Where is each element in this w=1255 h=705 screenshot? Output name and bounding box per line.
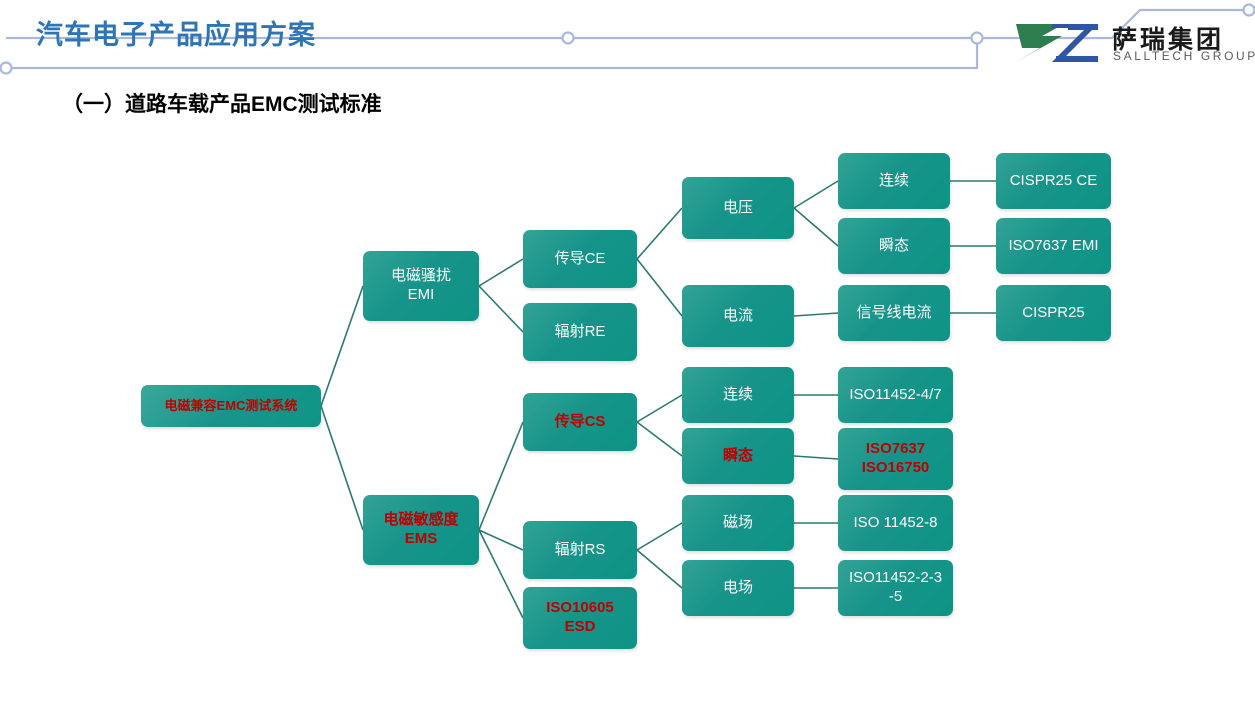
- tree-node-label: 电场: [723, 579, 753, 598]
- tree-node-ems: 电磁敏感度EMS: [363, 495, 479, 565]
- tree-node-iso7637-16750: ISO7637ISO16750: [838, 428, 953, 490]
- tree-node-rs: 辐射RS: [523, 521, 637, 579]
- tree-node-label: 连续: [879, 172, 909, 191]
- section-title: （一）道路车载产品EMC测试标准: [62, 88, 382, 118]
- tree-edge-cs-trans-to-iso7637-16750: [794, 456, 838, 459]
- emc-test-standard-tree: 电磁兼容EMC测试系统电磁骚扰EMI电磁敏感度EMS传导CE辐射RE传导CS辐射…: [0, 130, 1255, 690]
- tree-node-label: 电磁骚扰: [391, 267, 451, 286]
- tree-node-label: 信号线电流: [856, 304, 931, 323]
- salltech-logo-icon: [1012, 22, 1102, 64]
- tree-node-label: ISO11452-4/7: [849, 386, 941, 405]
- tree-node-iso11452-8: ISO 11452-8: [838, 495, 953, 551]
- tree-edge-current-to-sig-curr: [794, 313, 838, 316]
- tree-node-cs-trans: 瞬态: [682, 428, 794, 484]
- tree-edge-emi-to-ce: [479, 259, 523, 286]
- tree-node-label: 瞬态: [723, 447, 753, 466]
- tree-node-ce: 传导CE: [523, 230, 637, 288]
- tree-node-label: 辐射RE: [555, 323, 606, 342]
- tree-node-label: 电磁兼容EMC测试系统: [165, 398, 298, 414]
- tree-edge-emi-to-re: [479, 286, 523, 332]
- tree-node-label: EMS: [405, 530, 438, 549]
- tree-node-label: ISO7637 EMI: [1008, 237, 1098, 256]
- tree-node-label: 磁场: [723, 514, 753, 533]
- tree-node-re: 辐射RE: [523, 303, 637, 361]
- tree-node-label: ISO 11452-8: [854, 514, 938, 533]
- page-title: 汽车电子产品应用方案: [36, 13, 316, 52]
- tree-node-sig-curr: 信号线电流: [838, 285, 950, 341]
- tree-node-cs-cont: 连续: [682, 367, 794, 423]
- tree-node-ele-field: 电场: [682, 560, 794, 616]
- tree-node-label: 传导CE: [555, 250, 606, 269]
- tree-node-cispr25: CISPR25: [996, 285, 1111, 341]
- tree-node-label: ISO11452-2-3: [849, 569, 942, 588]
- tree-edge-rs-to-ele-field: [637, 550, 682, 588]
- tree-node-label: 电流: [723, 307, 753, 326]
- tree-node-label: ISO16750: [862, 459, 930, 478]
- tree-edge-root-to-emi: [321, 286, 363, 406]
- tree-node-iso11452-47: ISO11452-4/7: [838, 367, 953, 423]
- tree-node-label: ISO10605: [546, 599, 614, 618]
- tree-node-root: 电磁兼容EMC测试系统: [141, 385, 321, 427]
- tree-node-label: ISO7637: [866, 440, 925, 459]
- tree-edge-voltage-to-emi-cont: [794, 181, 838, 208]
- tree-node-cispr25ce: CISPR25 CE: [996, 153, 1111, 209]
- tree-node-iso11452-235: ISO11452-2-3-5: [838, 560, 953, 616]
- tree-node-iso7637emi: ISO7637 EMI: [996, 218, 1111, 274]
- tree-node-label: 瞬态: [879, 237, 909, 256]
- tree-edge-ems-to-cs: [479, 422, 523, 530]
- company-logo: 萨瑞集团 SALLTECH GROUP: [1012, 20, 1244, 66]
- tree-node-emi: 电磁骚扰EMI: [363, 251, 479, 321]
- tree-edge-cs-to-cs-trans: [637, 422, 682, 456]
- tree-edge-ce-to-current: [637, 259, 682, 316]
- tree-node-label: EMI: [408, 286, 435, 305]
- tree-node-label: 连续: [723, 386, 753, 405]
- tree-node-cs: 传导CS: [523, 393, 637, 451]
- tree-edge-ems-to-esd: [479, 530, 523, 618]
- tree-node-mag-field: 磁场: [682, 495, 794, 551]
- tree-node-emi-trans: 瞬态: [838, 218, 950, 274]
- tree-node-label: CISPR25 CE: [1010, 172, 1098, 191]
- tree-edge-ems-to-rs: [479, 530, 523, 550]
- tree-node-label: 电磁敏感度: [383, 511, 458, 530]
- tree-node-emi-cont: 连续: [838, 153, 950, 209]
- slide-canvas: 汽车电子产品应用方案 （一）道路车载产品EMC测试标准 萨瑞集团 SALLTEC…: [0, 0, 1255, 705]
- tree-edge-cs-to-cs-cont: [637, 395, 682, 422]
- tree-node-label: ESD: [565, 618, 596, 637]
- tree-node-esd: ISO10605ESD: [523, 587, 637, 649]
- tree-edge-root-to-ems: [321, 406, 363, 530]
- tree-edge-ce-to-voltage: [637, 208, 682, 259]
- tree-edge-rs-to-mag-field: [637, 523, 682, 550]
- tree-node-label: 传导CS: [555, 413, 606, 432]
- tree-node-label: CISPR25: [1022, 304, 1085, 323]
- tree-node-label: 辐射RS: [555, 541, 606, 560]
- logo-company-name-en: SALLTECH GROUP: [1113, 49, 1255, 63]
- tree-edge-voltage-to-emi-trans: [794, 208, 838, 246]
- tree-node-voltage: 电压: [682, 177, 794, 239]
- tree-node-current: 电流: [682, 285, 794, 347]
- tree-node-label: 电压: [723, 199, 753, 218]
- tree-node-label: -5: [889, 588, 902, 607]
